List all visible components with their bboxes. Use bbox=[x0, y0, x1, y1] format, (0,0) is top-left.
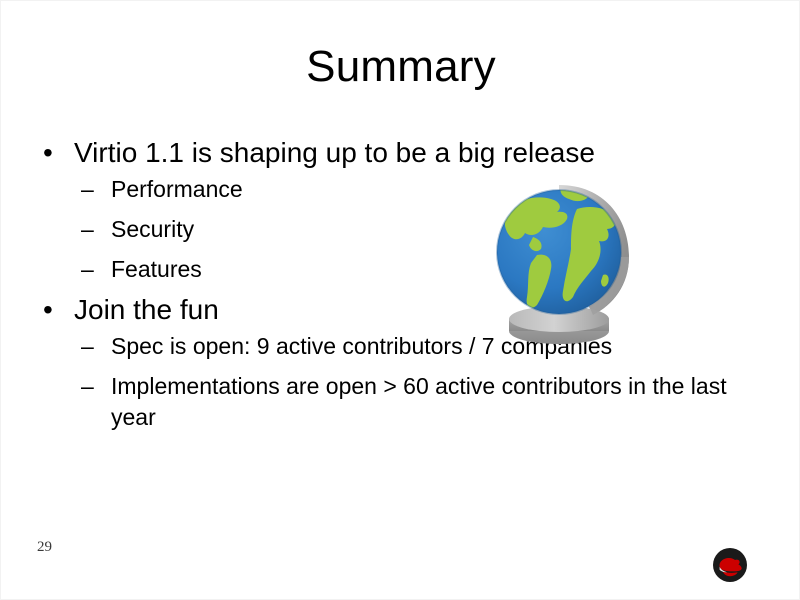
bullet-level1-text: Virtio 1.1 is shaping up to be a big rel… bbox=[74, 137, 595, 168]
bullet-marker-dash: – bbox=[81, 214, 94, 245]
bullet-level2-text: Security bbox=[111, 216, 194, 242]
page-number: 29 bbox=[37, 539, 52, 556]
page-title: Summary bbox=[1, 43, 800, 91]
bullet-level1: • Virtio 1.1 is shaping up to be a big r… bbox=[35, 137, 751, 168]
globe-image bbox=[493, 179, 641, 351]
bullet-list: • Virtio 1.1 is shaping up to be a big r… bbox=[35, 137, 751, 442]
sub-bullet-list: – Performance – Security – Features bbox=[35, 174, 751, 284]
bullet-level2-text: Implementations are open > 60 active con… bbox=[111, 373, 727, 430]
bullet-marker-dash: – bbox=[81, 254, 94, 285]
bullet-level2: – Spec is open: 9 active contributors / … bbox=[35, 331, 751, 362]
bullet-level2-text: Features bbox=[111, 256, 202, 282]
bullet-marker-dash: – bbox=[81, 331, 94, 362]
bullet-marker-dot: • bbox=[43, 294, 53, 325]
bullet-marker-dot: • bbox=[43, 137, 53, 168]
bullet-marker-dash: – bbox=[81, 174, 94, 205]
bullet-level2: – Implementations are open > 60 active c… bbox=[35, 371, 751, 432]
bullet-level2: – Performance bbox=[35, 174, 751, 205]
bullet-level1: • Join the fun bbox=[35, 294, 751, 325]
bullet-level2-text: Performance bbox=[111, 176, 243, 202]
bullet-level2: – Security bbox=[35, 214, 751, 245]
sub-bullet-list: – Spec is open: 9 active contributors / … bbox=[35, 331, 751, 432]
slide-canvas: Summary • Virtio 1.1 is shaping up to be… bbox=[0, 0, 800, 600]
bullet-level2: – Features bbox=[35, 254, 751, 285]
bullet-level1-text: Join the fun bbox=[74, 294, 219, 325]
bullet-marker-dash: – bbox=[81, 371, 94, 402]
red-hat-logo bbox=[707, 544, 753, 586]
